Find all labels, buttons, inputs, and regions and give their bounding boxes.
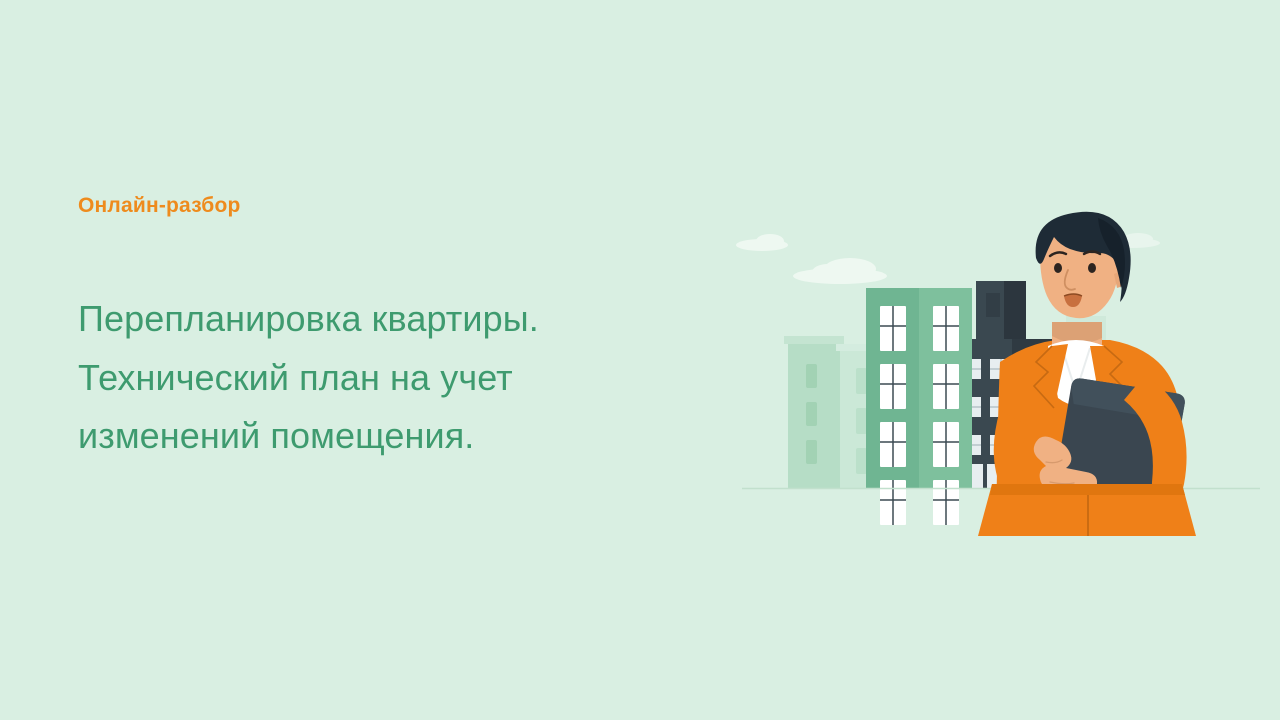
city-illustration-svg (700, 196, 1260, 536)
headline-line-2: Технический план на учет (78, 349, 698, 407)
presenter-head (1036, 212, 1131, 318)
cloud-small-icon (736, 234, 788, 251)
slide-canvas: Онлайн-разбор Перепланировка квартиры. Т… (0, 0, 1280, 720)
headline-line-1: Перепланировка квартиры. (78, 290, 698, 348)
presenter-eye-right (1088, 263, 1096, 273)
green-tower-building (866, 288, 972, 525)
page-title: Перепланировка квартиры. Технический пла… (78, 290, 698, 465)
presenter-figure (978, 212, 1202, 536)
text-block: Онлайн-разбор Перепланировка квартиры. Т… (78, 193, 698, 465)
eyebrow-label: Онлайн-разбор (78, 193, 698, 218)
headline-line-3: изменений помещения. (78, 407, 698, 465)
cloud-large-icon (793, 258, 887, 284)
hero-illustration (700, 196, 1260, 536)
presenter-eye-left (1054, 263, 1062, 273)
